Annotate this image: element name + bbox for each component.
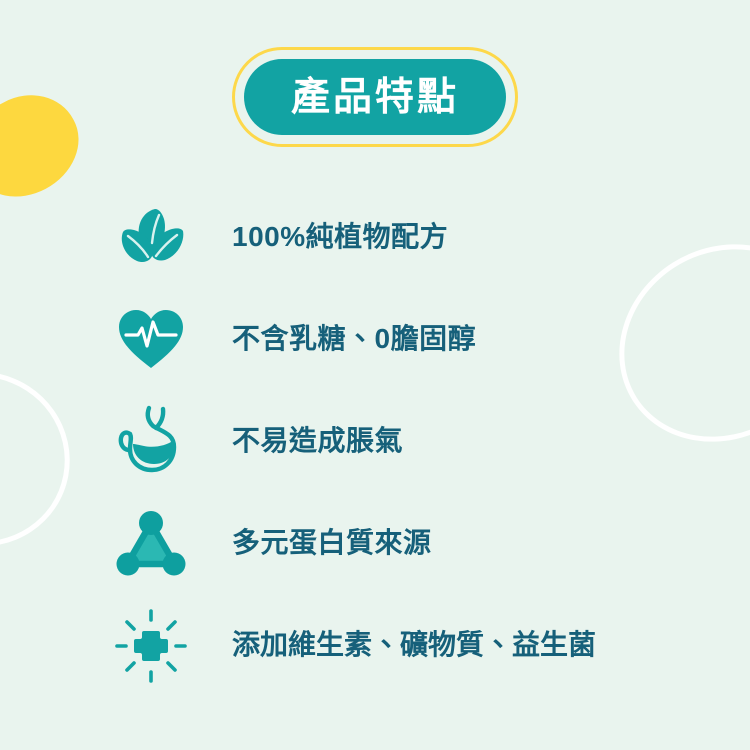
feature-label-low-bloating: 不易造成脹氣 bbox=[232, 426, 403, 457]
white-ring-left-shape bbox=[0, 345, 96, 573]
feature-item-low-bloating: 不易造成脹氣 bbox=[108, 390, 728, 492]
medical-cross-burst-icon bbox=[108, 605, 194, 685]
feature-item-multi-protein-source: 多元蛋白質來源 bbox=[108, 492, 728, 594]
product-features-poster: 產品特點 10 bbox=[0, 0, 750, 750]
title-badge-ring: 產品特點 bbox=[232, 47, 518, 147]
leaves-icon bbox=[108, 197, 194, 277]
page-title: 產品特點 bbox=[291, 78, 459, 117]
title-badge: 產品特點 bbox=[244, 59, 506, 135]
stomach-icon bbox=[108, 401, 194, 481]
heart-pulse-icon bbox=[108, 299, 194, 379]
feature-label-added-nutrients: 添加維生素、礦物質、益生菌 bbox=[232, 630, 596, 661]
feature-item-added-nutrients: 添加維生素、礦物質、益生菌 bbox=[108, 594, 728, 696]
molecule-triangle-icon bbox=[108, 503, 194, 583]
feature-list: 100%純植物配方 不含乳糖、0膽固醇 bbox=[108, 186, 728, 696]
title-badge-container: 產品特點 bbox=[0, 47, 750, 147]
feature-label-plant-formula: 100%純植物配方 bbox=[232, 222, 448, 253]
feature-item-plant-formula: 100%純植物配方 bbox=[108, 186, 728, 288]
feature-item-lactose-cholesterol-free: 不含乳糖、0膽固醇 bbox=[108, 288, 728, 390]
feature-label-lactose-cholesterol-free: 不含乳糖、0膽固醇 bbox=[232, 324, 476, 355]
feature-label-multi-protein-source: 多元蛋白質來源 bbox=[232, 528, 432, 559]
